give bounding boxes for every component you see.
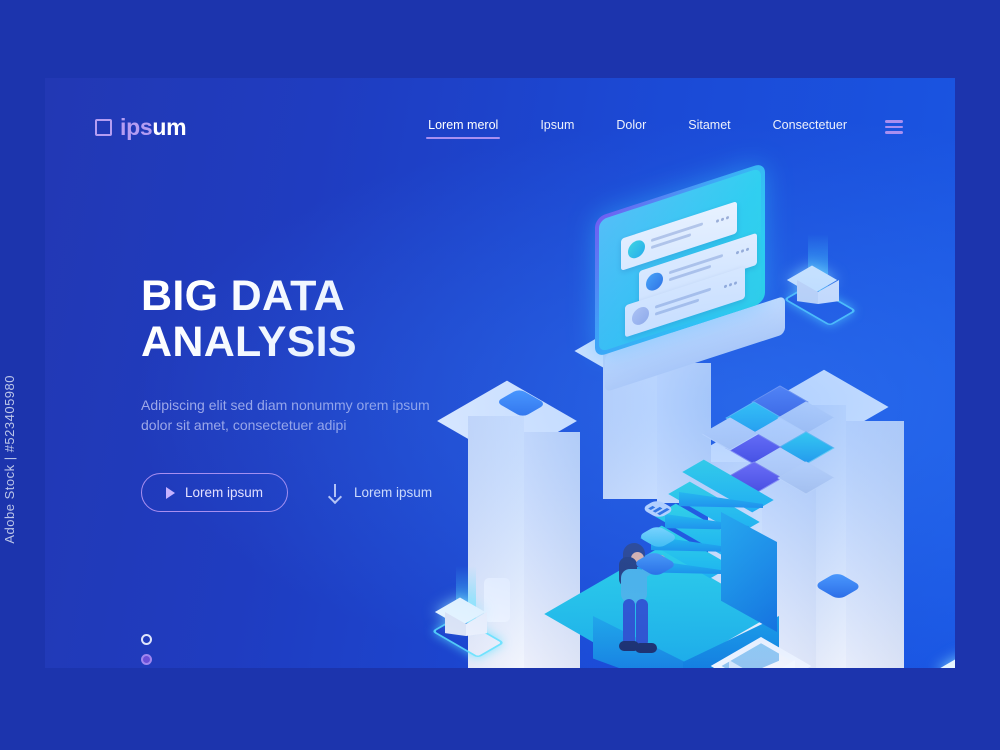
stock-watermark-caption: Adobe Stock | #523405980 [2,375,17,544]
isometric-illustration [390,148,955,668]
avatar [646,270,663,293]
page-root: Adobe Stock | #523405980 ipsum Lorem mer… [0,0,1000,750]
more-options-icon[interactable] [736,247,749,254]
download-arrow-icon [328,484,342,502]
square-outline-icon [95,119,112,136]
top-navigation-bar: ipsum Lorem merol Ipsum Dolor Sitamet Co… [45,108,955,148]
nav-item-consectetuer[interactable]: Consectetuer [773,118,847,136]
primary-cta-button[interactable]: Lorem ipsum [141,473,288,512]
slider-pagination-dots [141,634,152,668]
brand-name-part1: ips [120,114,152,140]
wireframe-cube [725,638,797,668]
floating-glow-cube-right [940,646,955,668]
subtitle-line-1: Adipiscing elit sed diam nonummy orem ip… [141,397,430,413]
nav-links: Lorem merol Ipsum Dolor Sitamet Consecte… [386,118,903,136]
hero-card: ipsum Lorem merol Ipsum Dolor Sitamet Co… [45,78,955,668]
primary-cta-label: Lorem ipsum [185,485,263,500]
floating-glow-cube-left [438,588,494,656]
brand-logo[interactable]: ipsum [95,114,186,141]
monitor-screen [595,190,795,360]
pagination-dot-1[interactable] [141,634,152,645]
brand-name-part2: um [152,114,186,140]
headline-line-1: BIG DATA [141,272,345,320]
floating-glow-cube-top [790,256,846,324]
avatar [628,238,645,261]
avatar [632,305,649,328]
subtitle-line-2: dolor sit amet, consectetuer adipi [141,417,346,433]
headline-line-2: ANALYSIS [141,318,357,366]
nav-item-lorem-merol[interactable]: Lorem merol [428,118,498,136]
play-icon [166,487,175,499]
more-options-icon[interactable] [724,281,737,288]
nav-item-ipsum[interactable]: Ipsum [540,118,574,136]
more-options-icon[interactable] [716,216,729,223]
pagination-dot-2[interactable] [141,654,152,665]
brand-name: ipsum [120,114,186,141]
nav-item-sitamet[interactable]: Sitamet [688,118,730,136]
hamburger-icon[interactable] [885,120,903,134]
nav-item-dolor[interactable]: Dolor [616,118,646,136]
